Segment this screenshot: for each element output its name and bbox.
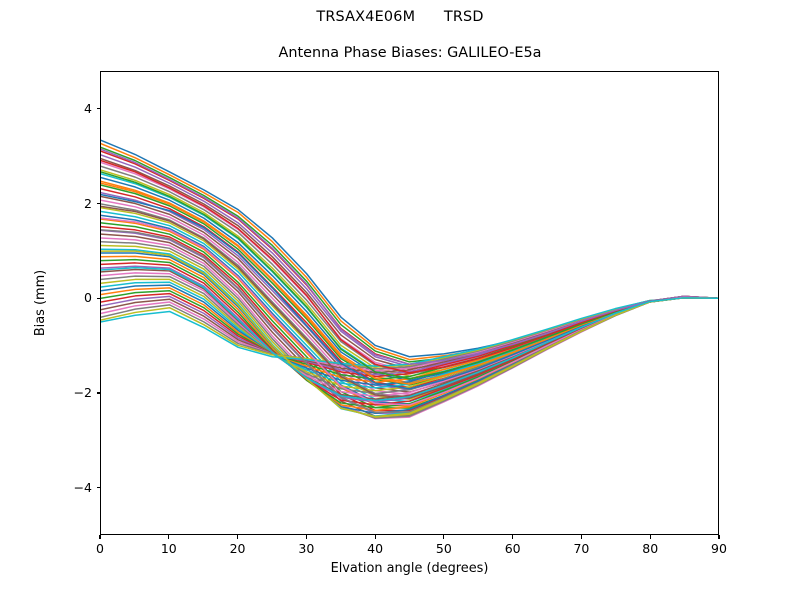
series-line — [101, 149, 718, 364]
x-tick-label: 20 — [230, 542, 246, 556]
x-tick-mark — [99, 535, 100, 539]
y-tick-mark — [97, 392, 101, 393]
x-tick-mark — [168, 535, 169, 539]
x-tick-mark — [650, 535, 651, 539]
y-tick-mark — [97, 298, 101, 299]
y-axis-label: Bias (mm) — [33, 203, 49, 403]
y-tick-mark — [97, 108, 101, 109]
x-tick-mark — [237, 535, 238, 539]
chart-title: Antenna Phase Biases: GALILEO-E5a — [100, 44, 720, 62]
x-tick-mark — [306, 535, 307, 539]
series-line — [101, 140, 718, 356]
x-tick-label: 0 — [96, 542, 104, 556]
x-tick-mark — [718, 535, 719, 539]
x-tick-label: 40 — [367, 542, 383, 556]
y-tick-mark — [97, 203, 101, 204]
y-tick-mark — [97, 487, 101, 488]
x-tick-label: 60 — [505, 542, 521, 556]
series-line — [101, 178, 718, 381]
y-tick-label: −4 — [40, 481, 92, 495]
x-tick-label: 70 — [573, 542, 589, 556]
x-tick-mark — [581, 535, 582, 539]
x-tick-mark — [512, 535, 513, 539]
series-lines — [101, 72, 718, 534]
x-tick-label: 10 — [161, 542, 177, 556]
y-tick-label: 4 — [40, 102, 92, 116]
x-tick-label: 30 — [298, 542, 314, 556]
x-tick-label: 50 — [436, 542, 452, 556]
x-tick-mark — [443, 535, 444, 539]
figure-suptitle: TRSAX4E06M TRSD — [0, 8, 800, 26]
figure-canvas: TRSAX4E06M TRSD Antenna Phase Biases: GA… — [0, 0, 800, 600]
x-tick-label: 90 — [711, 542, 727, 556]
x-axis-label: Elvation angle (degrees) — [100, 561, 719, 577]
x-tick-label: 80 — [642, 542, 658, 556]
x-tick-mark — [375, 535, 376, 539]
plot-area[interactable] — [100, 71, 719, 535]
